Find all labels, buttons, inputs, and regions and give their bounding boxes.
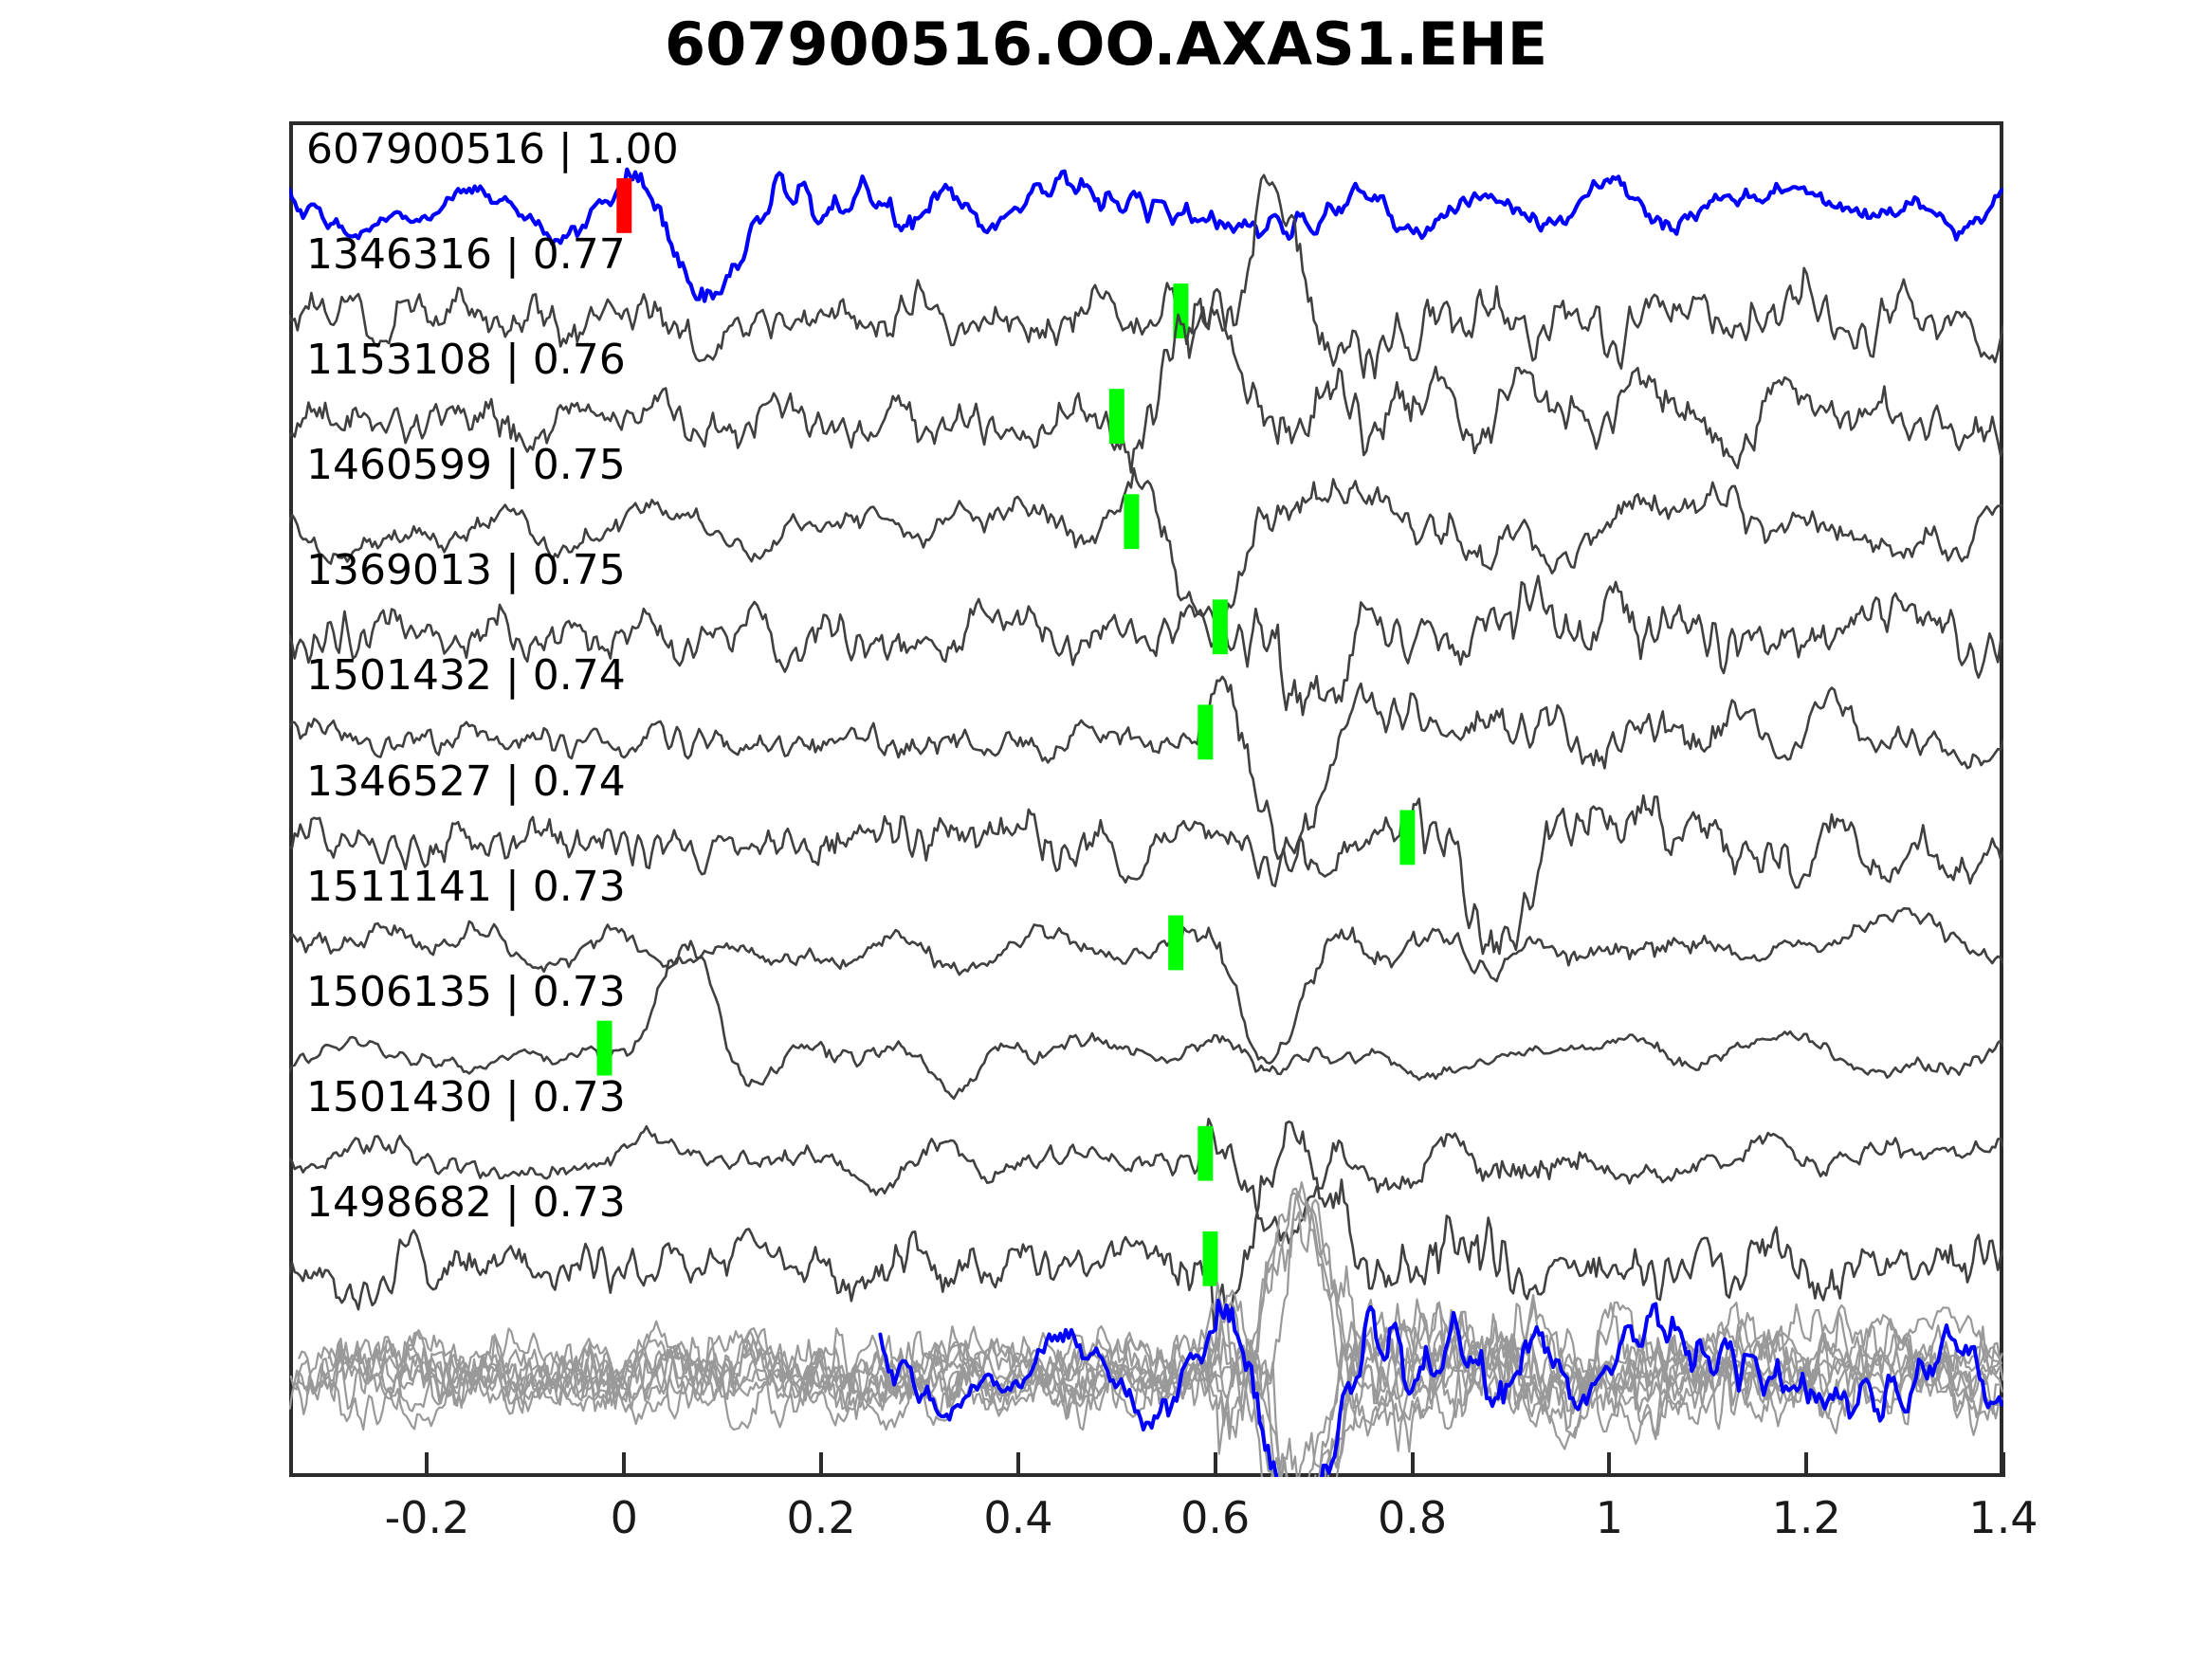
trace-label-1346527: 1346527 | 0.74 [306, 761, 626, 803]
x-tick-label: 0.4 [983, 1492, 1052, 1543]
x-tick-label: 1.4 [1968, 1492, 2038, 1543]
trace-label-1498682: 1498682 | 0.73 [306, 1182, 626, 1224]
pick-marker-1501430 [1197, 1126, 1213, 1181]
x-tick-mark [1804, 1452, 1808, 1477]
pick-marker-1511141 [1168, 916, 1183, 971]
overlay-waveform [323, 1192, 2002, 1451]
trace-label-1501430: 1501430 | 0.73 [306, 1077, 626, 1119]
pick-marker-1153108 [1109, 389, 1124, 444]
trace-waveform-1460599 [289, 468, 2003, 620]
overlay-waveform [294, 1194, 2002, 1454]
x-tick-mark [1016, 1452, 1020, 1477]
trace-label-1511141: 1511141 | 0.73 [306, 866, 626, 908]
x-tick-mark [1214, 1452, 1217, 1477]
pick-marker-1506135 [597, 1021, 612, 1076]
x-tick-mark [2002, 1452, 2005, 1477]
x-tick-label: 0.8 [1378, 1492, 1447, 1543]
pick-marker-1369013 [1213, 599, 1228, 654]
x-tick-label: -0.2 [385, 1492, 470, 1543]
trace-label-1506135: 1506135 | 0.73 [306, 972, 626, 1013]
x-tick-mark [819, 1452, 823, 1477]
trace-label-1501432: 1501432 | 0.74 [306, 655, 626, 697]
x-tick-mark [425, 1452, 429, 1477]
x-tick-label: 1.2 [1772, 1492, 1841, 1543]
x-tick-mark [1607, 1452, 1611, 1477]
pick-marker-1498682 [1203, 1231, 1218, 1286]
trace-label-1346316: 1346316 | 0.77 [306, 234, 626, 276]
trace-label-1153108: 1153108 | 0.76 [306, 339, 626, 381]
trace-label-607900516: 607900516 | 1.00 [306, 129, 679, 171]
x-tick-mark [1411, 1452, 1415, 1477]
trace-label-1460599: 1460599 | 0.75 [306, 445, 626, 486]
x-tick-label: 0 [611, 1492, 638, 1543]
figure-title: 607900516.OO.AXAS1.EHE [0, 9, 2212, 79]
x-tick-label: 1 [1596, 1492, 1623, 1543]
trace-label-1369013: 1369013 | 0.75 [306, 550, 626, 592]
x-tick-mark [622, 1452, 626, 1477]
figure-root: 607900516.OO.AXAS1.EHE 607900516 | 1.001… [0, 0, 2212, 1659]
pick-marker-1346527 [1399, 811, 1415, 866]
x-tick-label: 0.2 [787, 1492, 856, 1543]
pick-marker-1460599 [1124, 494, 1139, 549]
pick-marker-607900516 [616, 178, 631, 233]
pick-marker-1501432 [1197, 704, 1213, 759]
x-tick-label: 0.6 [1180, 1492, 1250, 1543]
